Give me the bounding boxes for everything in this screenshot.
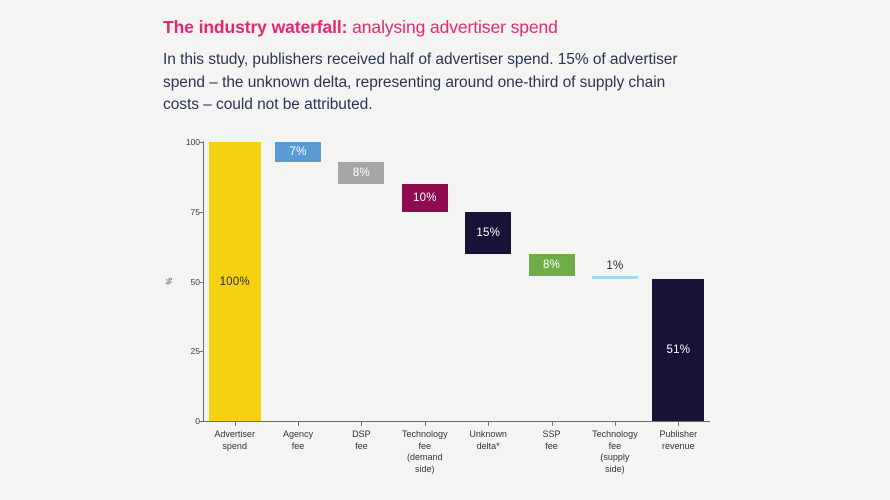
bar-value-label: 10% <box>413 192 437 204</box>
bar-1[interactable]: 100% <box>209 142 261 421</box>
bar-value-label: 100% <box>220 276 250 288</box>
x-axis-tick-mark <box>488 422 489 426</box>
y-axis-tick-mark <box>199 421 203 422</box>
bar-2[interactable]: 7% <box>275 142 321 162</box>
x-axis-tick-label: Agency fee <box>266 429 329 452</box>
bar-value-label: 8% <box>543 259 560 271</box>
y-axis-tick-label: 25 <box>172 346 200 356</box>
bar-3[interactable]: 8% <box>338 162 384 184</box>
waterfall-chart: % 0255075100 100%7%8%10%15%8%1%51% Adver… <box>0 0 890 500</box>
x-axis-tick-mark <box>615 422 616 426</box>
x-axis-tick-label: DSP fee <box>330 429 393 452</box>
bar-7[interactable]: 1% <box>592 276 638 279</box>
x-axis-tick-label: Unknown delta* <box>457 429 520 452</box>
x-axis-tick-mark <box>235 422 236 426</box>
y-axis-tick-label: 75 <box>172 207 200 217</box>
x-axis-tick-mark <box>552 422 553 426</box>
y-axis-tick-mark <box>199 351 203 352</box>
x-axis-tick-mark <box>298 422 299 426</box>
y-axis-tick-mark <box>199 212 203 213</box>
bar-value-label: 51% <box>667 344 691 356</box>
x-axis-tick-label: Publisher revenue <box>647 429 710 452</box>
bar-value-label: 7% <box>290 146 307 158</box>
x-axis-tick-label: Technology fee (supply side) <box>583 429 646 475</box>
x-axis-tick-mark <box>678 422 679 426</box>
bar-value-label: 15% <box>476 227 500 239</box>
y-axis-tick-label: 100 <box>172 137 200 147</box>
y-axis-line <box>203 141 204 422</box>
y-axis-tick-label: 50 <box>172 277 200 287</box>
bar-6[interactable]: 8% <box>529 254 575 276</box>
x-axis-tick-label: Technology fee (demand side) <box>393 429 456 475</box>
y-axis-tick-label: 0 <box>172 416 200 426</box>
x-axis-tick-label: Advertiser spend <box>203 429 266 452</box>
bar-5[interactable]: 15% <box>465 212 511 254</box>
x-axis-tick-label: SSP fee <box>520 429 583 452</box>
bar-8[interactable]: 51% <box>652 279 704 421</box>
bar-value-label: 1% <box>606 260 623 272</box>
x-axis-line <box>203 421 710 422</box>
y-axis-tick-mark <box>199 142 203 143</box>
x-axis-tick-mark <box>361 422 362 426</box>
x-axis-tick-mark <box>425 422 426 426</box>
bar-4[interactable]: 10% <box>402 184 448 212</box>
bar-value-label: 8% <box>353 167 370 179</box>
y-axis-tick-mark <box>199 282 203 283</box>
